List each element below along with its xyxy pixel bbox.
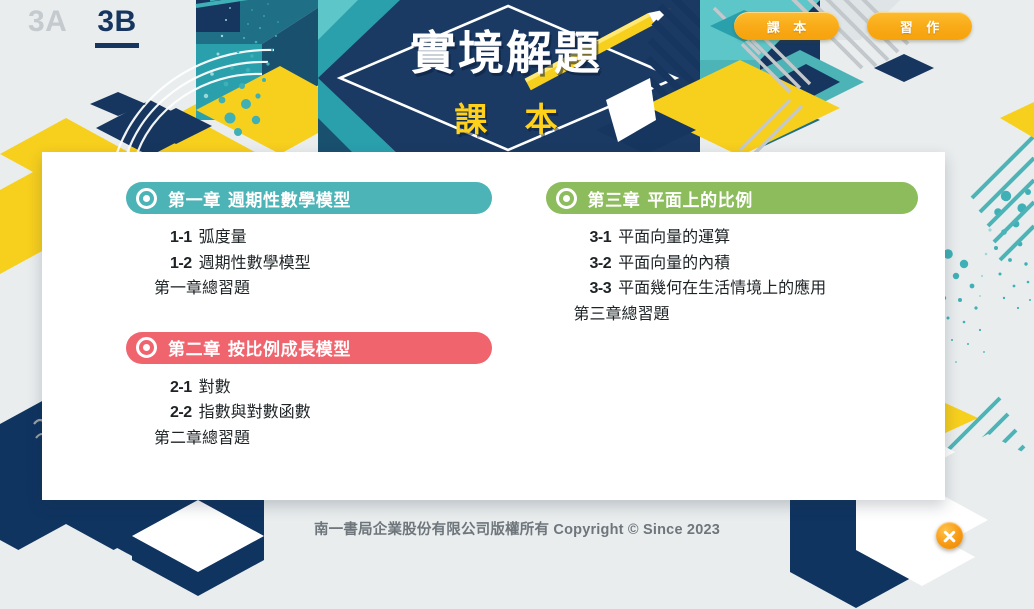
list-item[interactable]: 3-3 平面幾何在生活情境上的應用 [590,276,946,302]
textbook-button[interactable]: 課 本 [734,12,839,40]
table-of-contents-card: 第一章 週期性數學模型 1-1 弧度量 1-2 週期性數學模型 第一章總習題 [42,152,945,500]
item-text: 指數與對數函數 [199,400,311,426]
close-icon[interactable] [936,522,963,549]
list-item[interactable]: 第一章總習題 [154,276,494,302]
list-item[interactable]: 3-2 平面向量的內積 [590,251,946,277]
list-item[interactable]: 2-2 指數與對數函數 [170,400,494,426]
item-number: 1-2 [170,251,192,277]
page-root: 3A 3B 課 本 習 作 實境解題 課 本 第一章 週期性數學模型 1-1 [0,0,1034,609]
chapter-header-3[interactable]: 第三章 平面上的比例 [546,182,918,214]
item-text: 弧度量 [199,225,247,251]
toc-right-column: 第三章 平面上的比例 3-1 平面向量的運算 3-2 平面向量的內積 3-3 平… [494,152,946,500]
chapter-block-3: 第三章 平面上的比例 3-1 平面向量的運算 3-2 平面向量的內積 3-3 平… [546,182,946,327]
item-number: 3-2 [590,251,612,277]
list-item[interactable]: 3-1 平面向量的運算 [590,225,946,251]
chapter-title-1: 週期性數學模型 [228,186,351,211]
item-number: 3-3 [590,276,612,302]
copyright-footer: 南一書局企業股份有限公司版權所有 Copyright © Since 2023 [0,518,1034,539]
version-tab-group: 3A 3B [26,2,139,48]
version-tab-3a[interactable]: 3A [26,2,69,42]
item-number: 1-1 [170,225,192,251]
item-text: 第一章總習題 [154,276,250,302]
version-tab-3b[interactable]: 3B [95,2,138,48]
item-number: 2-1 [170,375,192,401]
target-ring-icon [136,337,157,358]
item-number: 2-2 [170,400,192,426]
item-text: 對數 [199,375,231,401]
chapter-title-3: 平面上的比例 [647,186,753,211]
item-text: 平面向量的內積 [618,251,730,277]
list-item[interactable]: 2-1 對數 [170,375,494,401]
chapter-title-2: 按比例成長模型 [228,335,351,360]
list-item[interactable]: 1-1 弧度量 [170,225,494,251]
chapter-header-2[interactable]: 第二章 按比例成長模型 [126,332,492,364]
item-text: 第三章總習題 [574,302,670,328]
list-item[interactable]: 第二章總習題 [154,426,494,452]
item-text: 週期性數學模型 [199,251,311,277]
list-item[interactable]: 1-2 週期性數學模型 [170,251,494,277]
item-text: 平面幾何在生活情境上的應用 [618,276,826,302]
item-text: 平面向量的運算 [618,225,730,251]
target-ring-icon [556,188,577,209]
item-number: 3-1 [590,225,612,251]
chapter-items-2: 2-1 對數 2-2 指數與對數函數 第二章總習題 [126,375,494,452]
top-button-group: 課 本 習 作 [734,12,972,40]
chapter-items-1: 1-1 弧度量 1-2 週期性數學模型 第一章總習題 [126,225,494,302]
list-item[interactable]: 第三章總習題 [574,302,946,328]
chapter-items-3: 3-1 平面向量的運算 3-2 平面向量的內積 3-3 平面幾何在生活情境上的應… [546,225,946,327]
chapter-label-1: 第一章 [168,186,221,211]
toc-left-column: 第一章 週期性數學模型 1-1 弧度量 1-2 週期性數學模型 第一章總習題 [42,152,494,500]
item-text: 第二章總習題 [154,426,250,452]
chapter-header-1[interactable]: 第一章 週期性數學模型 [126,182,492,214]
target-ring-icon [136,188,157,209]
chapter-label-2: 第二章 [168,335,221,360]
chapter-block-1: 第一章 週期性數學模型 1-1 弧度量 1-2 週期性數學模型 第一章總習題 [126,182,494,302]
workbook-button[interactable]: 習 作 [867,12,972,40]
chapter-block-2: 第二章 按比例成長模型 2-1 對數 2-2 指數與對數函數 第二章總習題 [126,332,494,452]
chapter-label-3: 第三章 [588,186,641,211]
